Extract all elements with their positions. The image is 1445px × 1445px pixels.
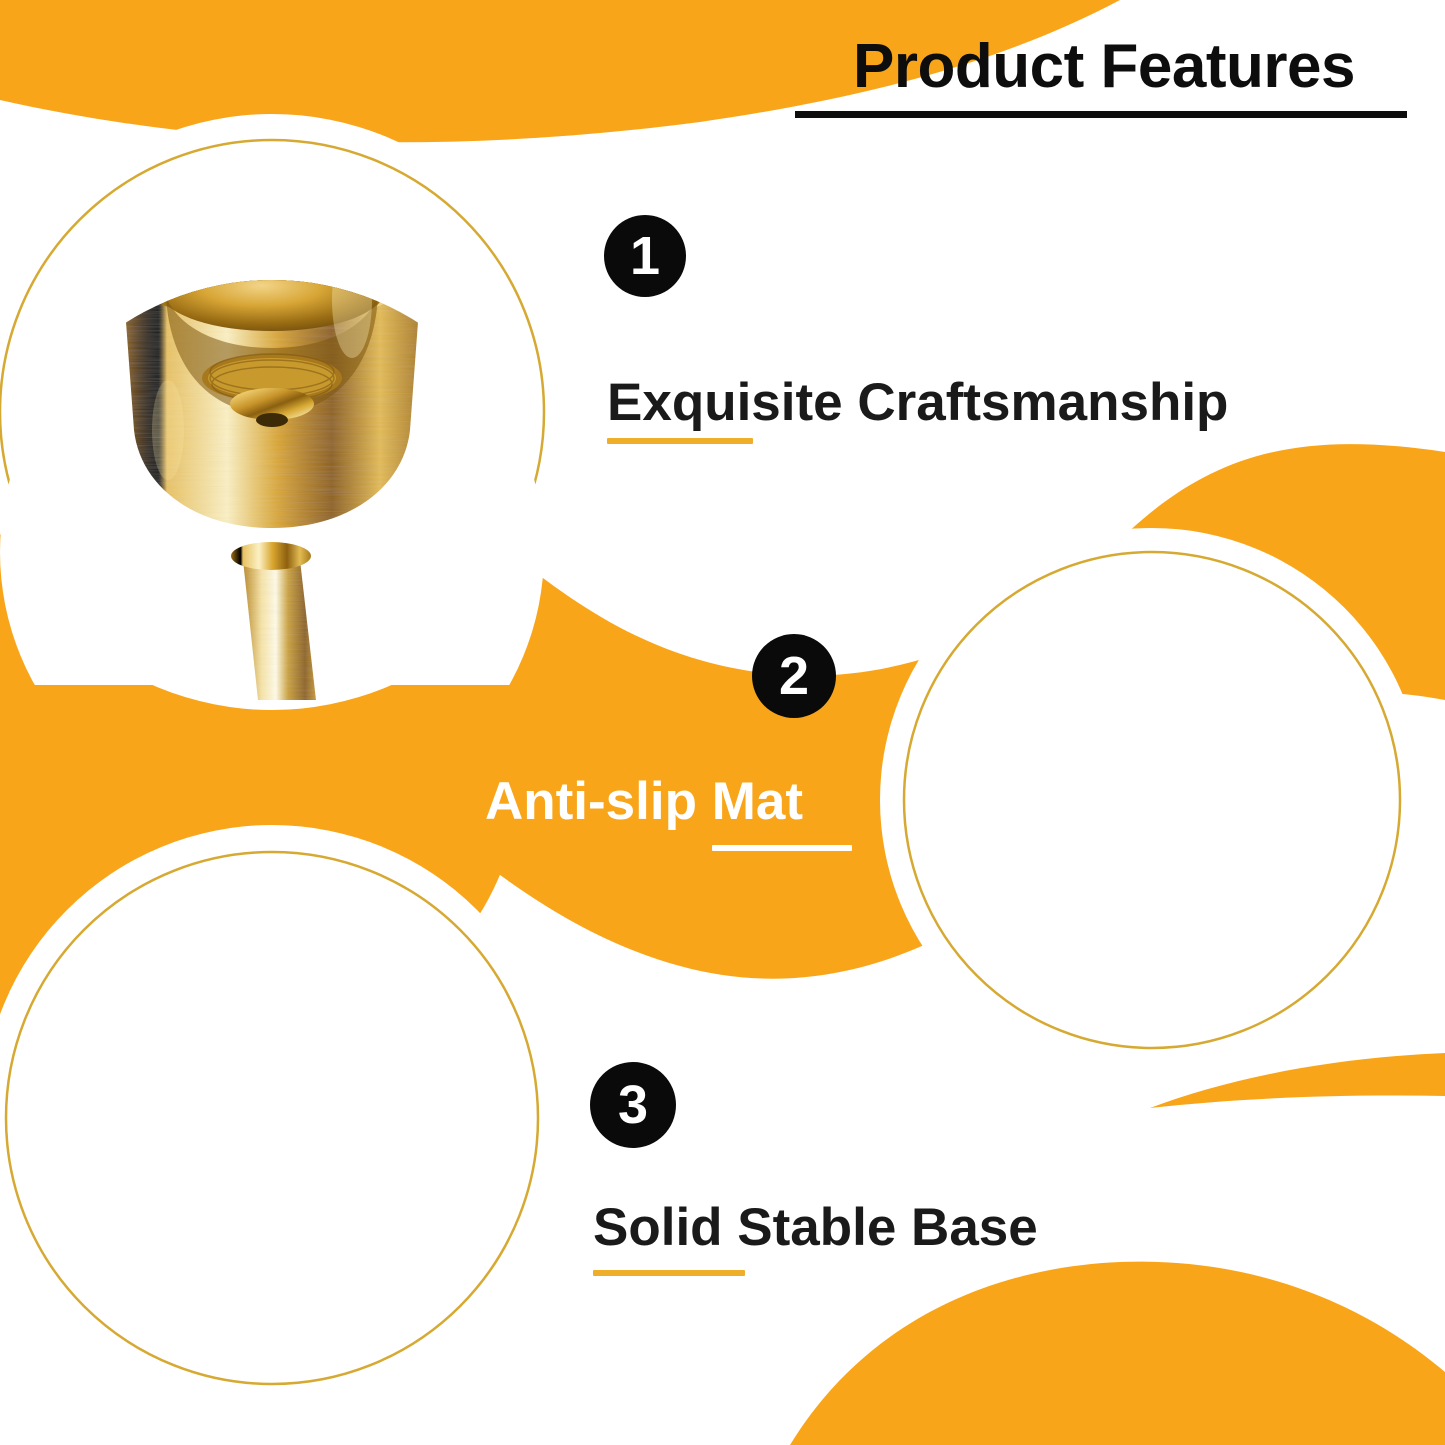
- orange-shape-bottom-right: [790, 1262, 1445, 1445]
- title-underline: [795, 111, 1407, 118]
- feature-underline-1: [607, 438, 753, 444]
- feature-label-3: Solid Stable Base: [593, 1201, 1038, 1254]
- page-title: Product Features: [795, 34, 1413, 99]
- feature-badge-1: 1: [604, 215, 686, 297]
- feature-underline-2: [712, 845, 852, 851]
- feature-badge-2: 2: [752, 634, 836, 718]
- feature-label-1: Exquisite Craftsmanship: [607, 376, 1228, 429]
- photo-halo-3: [0, 825, 562, 1405]
- feature-underline-3: [593, 1270, 745, 1276]
- page-title-block: Product Features: [795, 34, 1413, 118]
- feature-label-2: Anti-slip Mat: [485, 775, 803, 828]
- photo-halo-2: [880, 528, 1424, 1072]
- product-features-infographic: Product Features 1 Exquisite Craftsmansh…: [0, 0, 1445, 1445]
- feature-badge-3: 3: [590, 1062, 676, 1148]
